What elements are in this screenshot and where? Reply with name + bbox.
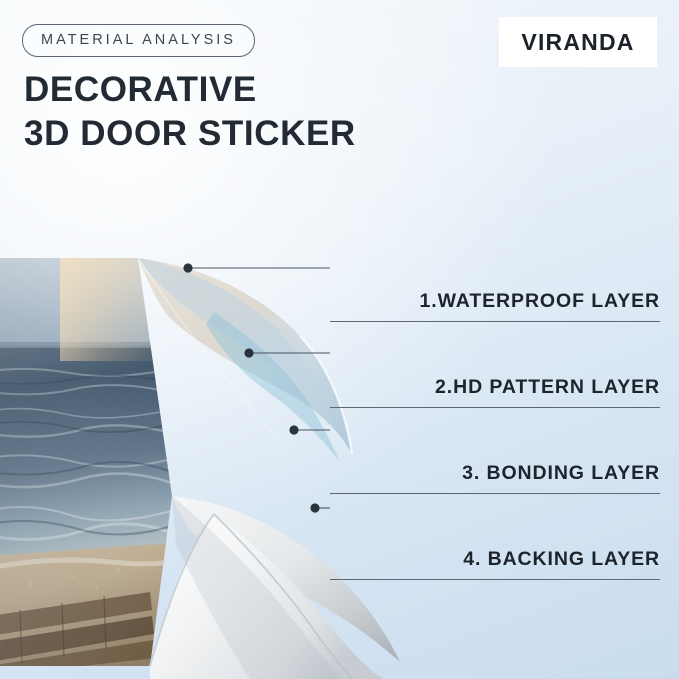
list-item: 3. BONDING LAYER (330, 408, 660, 494)
layer-label-3: 3. BONDING LAYER (462, 462, 660, 485)
title-line-1: DECORATIVE (24, 68, 356, 112)
list-item: 4. BACKING LAYER (330, 494, 660, 580)
list-item: 1.WATERPROOF LAYER (330, 236, 660, 322)
layer-callout-list: 1.WATERPROOF LAYER 2.HD PATTERN LAYER 3.… (330, 236, 660, 580)
list-item: 2.HD PATTERN LAYER (330, 322, 660, 408)
layer-label-2: 2.HD PATTERN LAYER (435, 376, 660, 399)
brand-logo-box: VIRANDA (499, 17, 657, 67)
layer-label-4: 4. BACKING LAYER (463, 548, 660, 571)
layer-rule-4 (330, 579, 660, 580)
brand-name: VIRANDA (521, 29, 634, 56)
eyebrow-badge: MATERIAL ANALYSIS (22, 24, 255, 57)
title-line-2: 3D DOOR STICKER (24, 112, 356, 156)
page-title: DECORATIVE 3D DOOR STICKER (24, 68, 356, 156)
poster-canvas: MATERIAL ANALYSIS DECORATIVE 3D DOOR STI… (0, 0, 679, 679)
layer-label-1: 1.WATERPROOF LAYER (420, 290, 660, 313)
